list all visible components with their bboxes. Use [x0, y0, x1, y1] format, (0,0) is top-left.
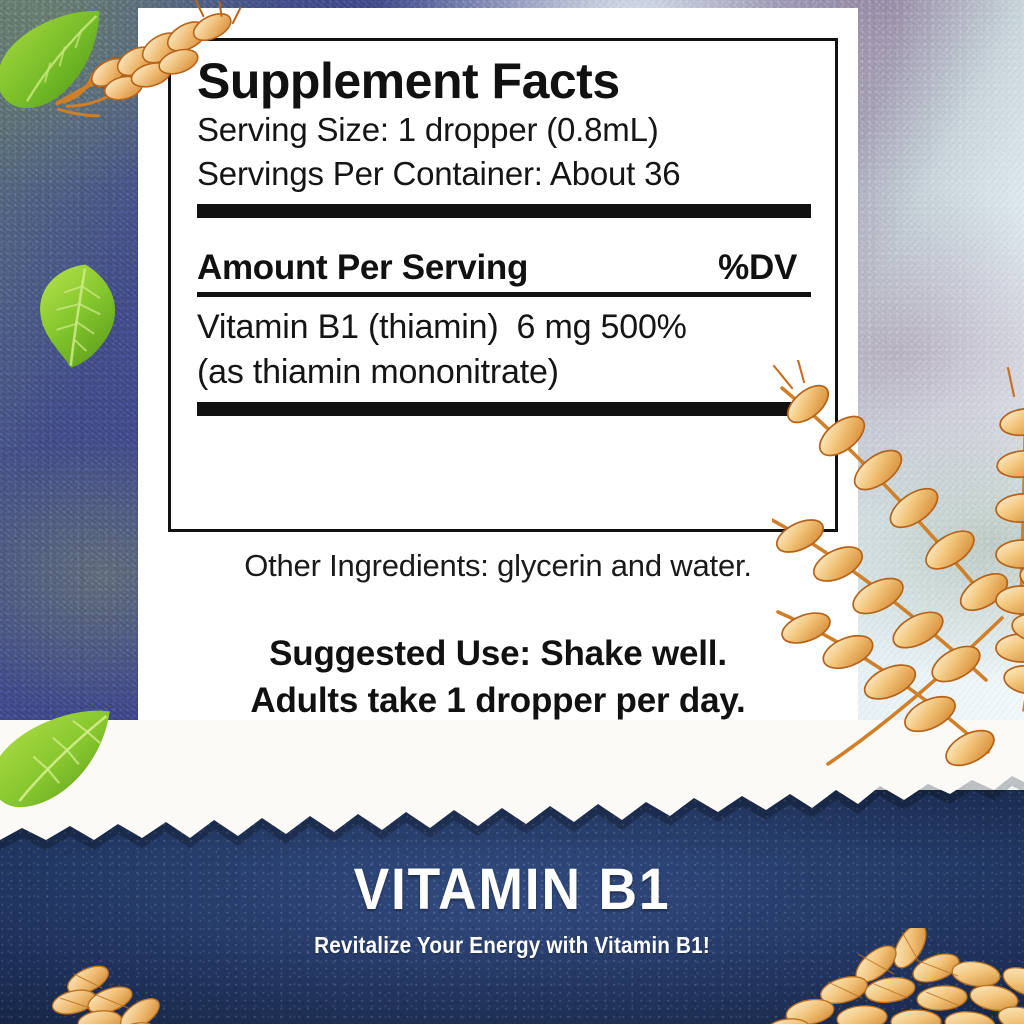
- supplement-facts-card: Supplement Facts Serving Size: 1 dropper…: [138, 8, 858, 760]
- poster-canvas: Supplement Facts Serving Size: 1 dropper…: [0, 0, 1024, 1024]
- banner-subtitle: Revitalize Your Energy with Vitamin B1!: [51, 932, 973, 959]
- suggested-use-line-1: Suggested Use: Shake well.: [138, 630, 858, 677]
- banner-title: VITAMIN B1: [41, 860, 983, 920]
- nutrient-row-vitamin-b1: Vitamin B1 (thiamin)6 mg 500%: [197, 305, 811, 349]
- spacer-after-top-rule: [197, 218, 811, 248]
- nutrient-name: Vitamin B1 (thiamin): [197, 308, 499, 346]
- servings-per-container-line: Servings Per Container: About 36: [197, 152, 811, 196]
- bottom-banner: VITAMIN B1 Revitalize Your Energy with V…: [0, 860, 1024, 959]
- nutrient-source-line: (as thiamin mononitrate): [197, 350, 811, 394]
- divider-thick-bottom: [197, 402, 811, 416]
- supplement-facts-box: Supplement Facts Serving Size: 1 dropper…: [168, 38, 838, 532]
- supplement-facts-title: Supplement Facts: [197, 55, 811, 108]
- nutrient-amount: 6 mg: [517, 308, 592, 346]
- divider-thin: [197, 292, 811, 297]
- suggested-use-line-2: Adults take 1 dropper per day.: [138, 677, 858, 724]
- daily-value-label: %DV: [718, 248, 797, 288]
- amount-per-serving-row: Amount Per Serving %DV: [197, 248, 811, 288]
- serving-size-line: Serving Size: 1 dropper (0.8mL): [197, 108, 811, 152]
- suggested-use-block: Suggested Use: Shake well. Adults take 1…: [138, 630, 858, 725]
- other-ingredients-line: Other Ingredients: glycerin and water.: [138, 548, 858, 584]
- nutrient-daily-value: 500%: [601, 308, 687, 346]
- divider-thick-top: [197, 204, 811, 218]
- amount-per-serving-label: Amount Per Serving: [197, 248, 528, 288]
